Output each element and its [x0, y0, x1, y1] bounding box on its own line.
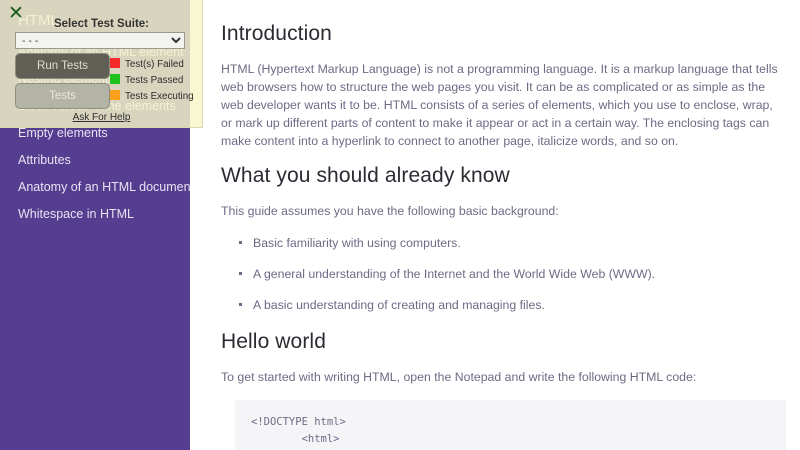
- introduction-heading: Introduction: [221, 22, 786, 46]
- hello-world-paragraph: To get started with writing HTML, open t…: [221, 368, 786, 386]
- main-content: Introduction HTML (Hypertext Markup Lang…: [205, 0, 800, 450]
- legend-label-executing: Tests Executing: [125, 91, 194, 102]
- prerequisites-heading: What you should already know: [221, 164, 786, 188]
- hello-world-code-block: <!DOCTYPE html> <html> <body> <h1>Hello …: [235, 400, 786, 450]
- legend-tests-passed: Tests Passed: [110, 74, 183, 86]
- legend-label-passed: Tests Passed: [125, 75, 183, 86]
- test-runner-overlay: ✕ Select Test Suite: - - - Run Tests Tes…: [0, 0, 203, 128]
- list-item: Basic familiarity with using computers.: [253, 234, 786, 252]
- legend-label-failed: Test(s) Failed: [125, 59, 184, 70]
- prerequisites-paragraph: This guide assumes you have the followin…: [221, 202, 786, 220]
- select-test-suite-label: Select Test Suite:: [0, 18, 203, 30]
- legend-swatch-executing-icon: [110, 90, 120, 100]
- legend-swatch-passed-icon: [110, 74, 120, 84]
- test-suite-select[interactable]: - - -: [15, 32, 185, 49]
- introduction-paragraph: HTML (Hypertext Markup Language) is not …: [221, 60, 786, 150]
- prerequisites-list: Basic familiarity with using computers. …: [221, 234, 786, 314]
- legend-tests-executing: Tests Executing: [110, 90, 194, 102]
- sidebar-item-whitespace-in-html[interactable]: Whitespace in HTML: [0, 201, 190, 228]
- sidebar-item-anatomy-of-an-html-document[interactable]: Anatomy of an HTML document: [0, 174, 190, 201]
- hello-world-heading: Hello world: [221, 330, 786, 354]
- tests-button[interactable]: Tests: [15, 83, 110, 109]
- run-tests-button[interactable]: Run Tests: [15, 53, 110, 79]
- list-item: A general understanding of the Internet …: [253, 265, 786, 283]
- ask-for-help-link[interactable]: Ask For Help: [0, 112, 203, 123]
- sidebar-item-attributes[interactable]: Attributes: [0, 147, 190, 174]
- legend-tests-failed: Test(s) Failed: [110, 58, 184, 70]
- legend-swatch-failed-icon: [110, 58, 120, 68]
- list-item: A basic understanding of creating and ma…: [253, 296, 786, 314]
